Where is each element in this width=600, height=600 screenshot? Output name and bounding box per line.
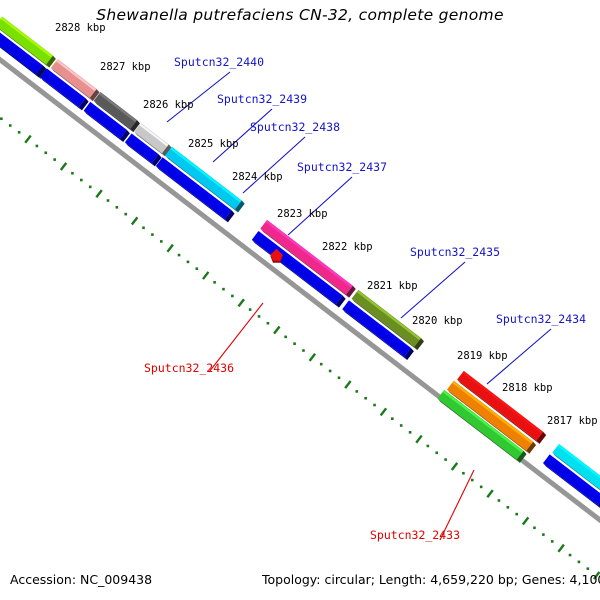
- genome-map-viewer: Shewanella putrefaciens CN-32, complete …: [0, 0, 600, 600]
- axis-tick-label: 2828 kbp: [55, 22, 106, 34]
- axis-tick-label: 2821 kbp: [367, 280, 418, 292]
- gene-feature-bar[interactable]: [438, 390, 527, 463]
- axis-tick-label: 2827 kbp: [100, 61, 151, 73]
- footer-bar: Accession: NC_009438 Topology: circular;…: [0, 572, 600, 592]
- gene-label-leader-line: [243, 137, 305, 193]
- axis-tick-label: 2820 kbp: [412, 315, 463, 327]
- gene-label-leader-line: [213, 109, 272, 162]
- gene-name-label[interactable]: Sputcn32_2437: [297, 160, 387, 174]
- axis-tick-label: 2825 kbp: [188, 138, 239, 150]
- gene-name-label[interactable]: Sputcn32_2435: [410, 245, 500, 259]
- gene-name-label[interactable]: Sputcn32_2434: [496, 312, 586, 326]
- axis-tick-label: 2823 kbp: [277, 208, 328, 220]
- gene-name-label[interactable]: Sputcn32_2436: [144, 361, 234, 375]
- axis-tick-label: 2826 kbp: [143, 99, 194, 111]
- gene-name-label[interactable]: Sputcn32_2433: [370, 528, 460, 542]
- gene-name-label[interactable]: Sputcn32_2439: [217, 92, 307, 106]
- axis-tick-label: 2818 kbp: [502, 382, 553, 394]
- genome-map-canvas: [0, 0, 600, 600]
- axis-tick-label: 2822 kbp: [322, 241, 373, 253]
- gene-name-label[interactable]: Sputcn32_2440: [174, 55, 264, 69]
- gene-name-label[interactable]: Sputcn32_2438: [250, 120, 340, 134]
- gene-label-leader-line: [288, 177, 352, 235]
- axis-tick-label: 2824 kbp: [232, 171, 283, 183]
- topology-text: Topology: circular; Length: 4,659,220 bp…: [262, 572, 600, 587]
- axis-tick-label: 2819 kbp: [457, 350, 508, 362]
- axis-tick-label: 2817 kbp: [547, 415, 598, 427]
- accession-text: Accession: NC_009438: [10, 572, 152, 587]
